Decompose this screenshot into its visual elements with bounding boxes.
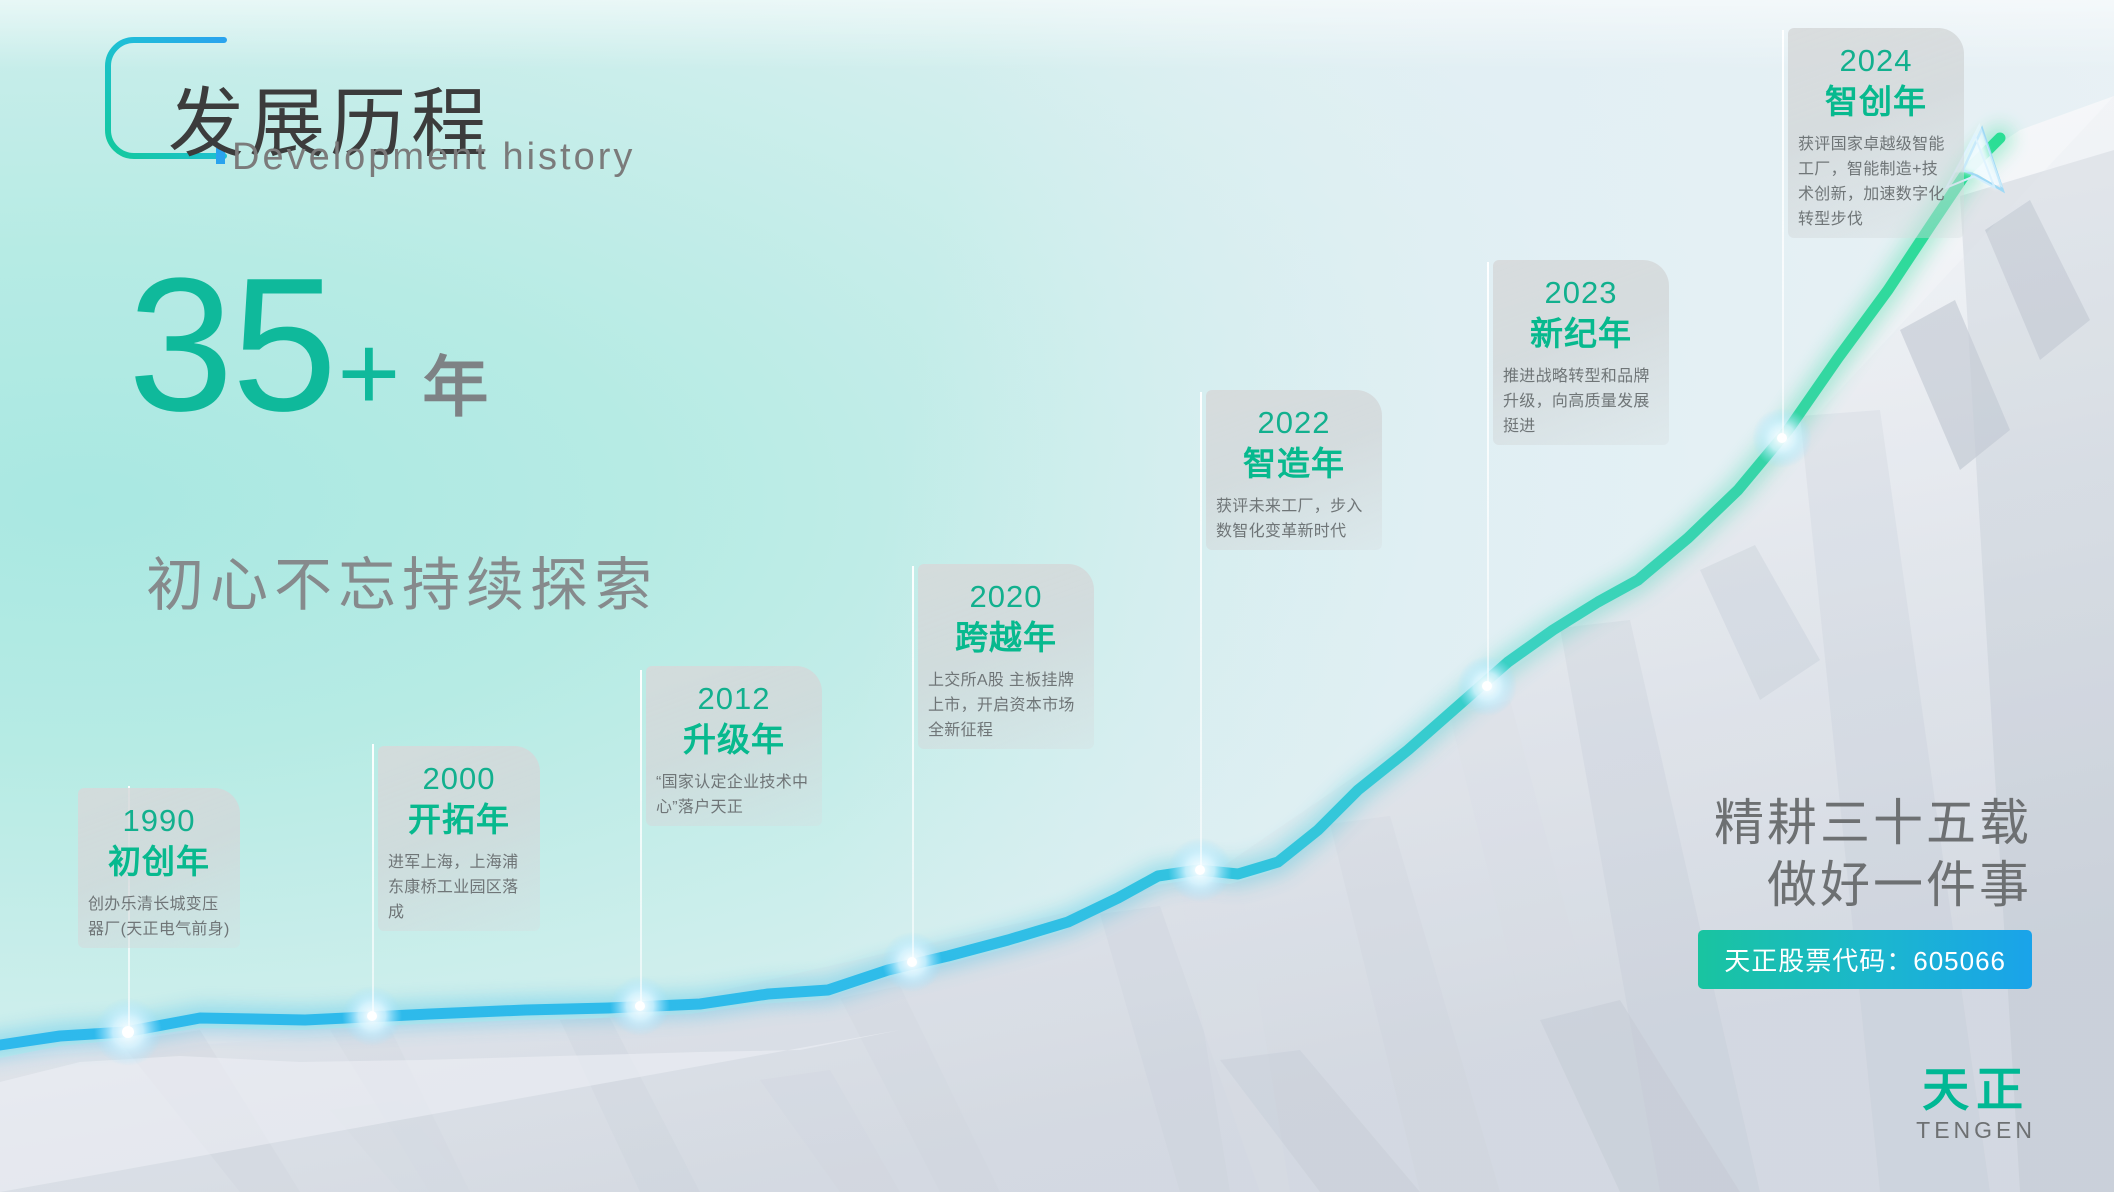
milestone-desc: 推进战略转型和品牌升级，向高质量发展挺进 xyxy=(1503,364,1659,439)
card-pole-2012 xyxy=(640,670,642,1010)
milestone-card-1990[interactable]: 1990 初创年 创办乐清长城变压器厂(天正电气前身) xyxy=(78,788,240,948)
slogan-line-1: 精耕三十五载 xyxy=(1714,792,2032,854)
milestone-card-2023[interactable]: 2023 新纪年 推进战略转型和品牌升级，向高质量发展挺进 xyxy=(1493,260,1669,445)
card-pole-2020 xyxy=(912,566,914,966)
company-logo: 天正 TENGEN xyxy=(1916,1064,2036,1144)
milestone-year: 2012 xyxy=(656,680,812,718)
years-stat: 35+年 xyxy=(128,258,488,435)
card-pole-2024 xyxy=(1782,30,1784,440)
slogan-line-2: 做好一件事 xyxy=(1714,854,2032,916)
milestone-year: 2000 xyxy=(388,760,530,798)
card-pole-2000 xyxy=(372,744,374,1018)
slide-canvas: 发展历程 Development history 35+年 初心不忘持续探索 1… xyxy=(0,0,2114,1192)
milestone-year: 2020 xyxy=(928,578,1084,616)
milestone-year: 1990 xyxy=(88,802,230,840)
milestone-year: 2024 xyxy=(1798,42,1954,80)
card-pole-2023 xyxy=(1487,262,1489,686)
milestone-card-2012[interactable]: 2012 升级年 “国家认定企业技术中心”落户天正 xyxy=(646,666,822,826)
milestone-desc: 创办乐清长城变压器厂(天正电气前身) xyxy=(88,892,230,942)
milestone-name: 智造年 xyxy=(1216,442,1372,486)
milestone-name: 升级年 xyxy=(656,718,812,762)
years-stat-subtitle: 初心不忘持续探索 xyxy=(146,538,658,622)
milestone-desc: “国家认定企业技术中心”落户天正 xyxy=(656,770,812,820)
logo-mark: 天正 xyxy=(1916,1064,2036,1116)
milestone-year: 2022 xyxy=(1216,404,1372,442)
logo-wordmark: TENGEN xyxy=(1916,1116,2036,1144)
milestone-name: 新纪年 xyxy=(1503,312,1659,356)
years-plus: + xyxy=(337,312,400,433)
milestone-card-2024[interactable]: 2024 智创年 获评国家卓越级智能工厂，智能制造+技术创新，加速数字化转型步伐 xyxy=(1788,28,1964,238)
milestone-desc: 上交所A股 主板挂牌上市，开启资本市场全新征程 xyxy=(928,668,1084,743)
milestone-name: 跨越年 xyxy=(928,616,1084,660)
page-subtitle: Development history xyxy=(232,136,635,179)
company-slogan: 精耕三十五载 做好一件事 xyxy=(1714,792,2032,916)
milestone-year: 2023 xyxy=(1503,274,1659,312)
milestone-card-2022[interactable]: 2022 智造年 获评未来工厂，步入数智化变革新时代 xyxy=(1206,390,1382,550)
milestone-name: 智创年 xyxy=(1798,80,1954,124)
years-number: 35 xyxy=(128,239,335,451)
years-unit: 年 xyxy=(422,350,488,424)
milestone-desc: 进军上海，上海浦东康桥工业园区落成 xyxy=(388,850,530,925)
milestone-card-2020[interactable]: 2020 跨越年 上交所A股 主板挂牌上市，开启资本市场全新征程 xyxy=(918,564,1094,749)
milestone-desc: 获评未来工厂，步入数智化变革新时代 xyxy=(1216,494,1372,544)
stock-code-badge: 天正股票代码：605066 xyxy=(1698,930,2032,989)
card-pole-2022 xyxy=(1200,392,1202,870)
milestone-desc: 获评国家卓越级智能工厂，智能制造+技术创新，加速数字化转型步伐 xyxy=(1798,132,1954,232)
milestone-name: 初创年 xyxy=(88,840,230,884)
milestone-name: 开拓年 xyxy=(388,798,530,842)
milestone-card-2000[interactable]: 2000 开拓年 进军上海，上海浦东康桥工业园区落成 xyxy=(378,746,540,931)
